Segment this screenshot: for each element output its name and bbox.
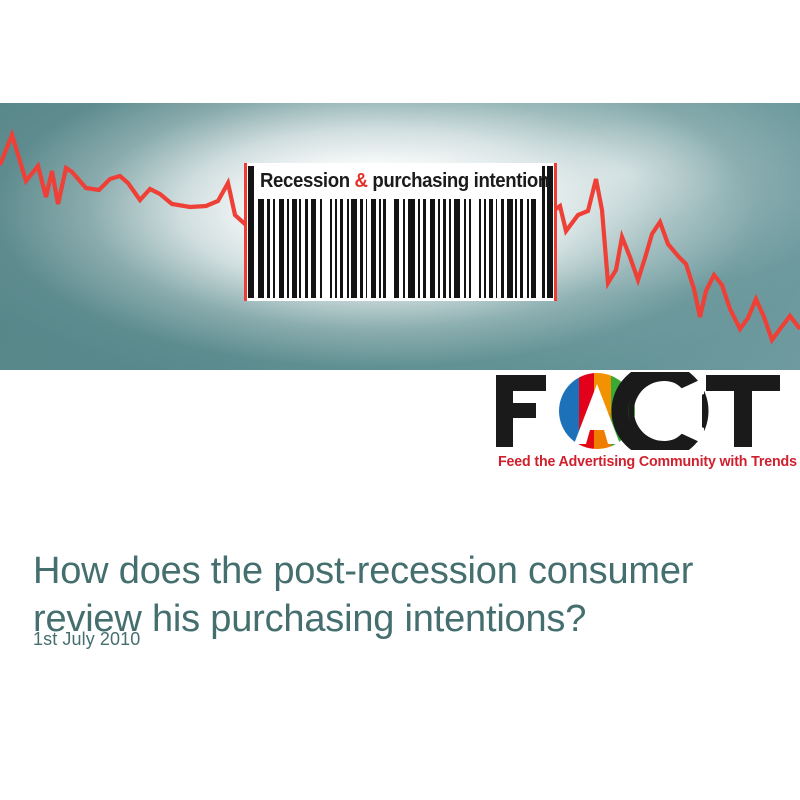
fact-logo: Feed the Advertising Community with Tren…	[492, 372, 792, 474]
barcode-bar	[371, 199, 376, 298]
barcode-bar	[287, 199, 289, 298]
barcode-title-part1: Recession	[260, 170, 354, 192]
barcode-bar	[305, 199, 308, 298]
barcode-left-red-edge	[244, 163, 247, 301]
barcode-right-red-edge	[554, 163, 557, 301]
barcode-bar	[520, 199, 523, 298]
barcode-bar	[464, 199, 467, 298]
logo-letter-c	[620, 372, 704, 450]
chart-line-left	[0, 135, 258, 225]
page-title-line-1: How does the post-recession consumer	[33, 547, 763, 595]
barcode-bar	[454, 199, 460, 298]
barcode-bar	[515, 199, 517, 298]
barcode-panel: Recession & purchasing intention	[244, 163, 557, 301]
barcode-bar	[330, 199, 333, 298]
logo-letter-f	[496, 375, 546, 447]
barcode-bar	[469, 199, 471, 298]
barcode-bar	[507, 199, 513, 298]
barcode-title: Recession & purchasing intention	[260, 165, 549, 197]
fact-logo-tagline: Feed the Advertising Community with Tren…	[498, 454, 797, 470]
barcode-bar	[394, 199, 400, 298]
barcode-bar	[531, 199, 536, 298]
barcode-bar	[408, 199, 415, 298]
barcode-bar	[340, 199, 343, 298]
barcode-title-part2: purchasing intention	[368, 170, 549, 192]
barcode-bar	[267, 199, 270, 298]
barcode-bar	[366, 199, 368, 298]
barcode-bar	[279, 199, 285, 298]
barcode-bar	[311, 199, 317, 298]
presentation-date: 1st July 2010	[33, 629, 140, 650]
barcode-bar	[501, 199, 504, 298]
barcode-bar	[403, 199, 405, 298]
barcode-bar	[347, 199, 349, 298]
barcode-bar	[449, 199, 451, 298]
barcode-bar	[479, 199, 482, 298]
barcode-bars	[258, 199, 539, 298]
barcode-bar	[443, 199, 446, 298]
barcode-title-ampersand: &	[354, 170, 367, 192]
barcode-bar	[351, 199, 357, 298]
barcode-bar	[489, 199, 493, 298]
barcode-bar	[430, 199, 436, 298]
page-title: How does the post-recession consumer rev…	[33, 547, 763, 643]
logo-letter-t	[706, 375, 780, 447]
barcode-left-guard-bar	[248, 166, 254, 298]
barcode-bar	[273, 199, 275, 298]
barcode-bar	[360, 199, 363, 298]
barcode-bar	[299, 199, 301, 298]
barcode-bar	[335, 199, 337, 298]
barcode-bar	[527, 199, 529, 298]
barcode-bar	[383, 199, 386, 298]
page-title-line-2: review his purchasing intentions?	[33, 595, 763, 643]
barcode-bar	[423, 199, 426, 298]
barcode-bar	[292, 199, 297, 298]
barcode-bar	[496, 199, 498, 298]
barcode-bar	[258, 199, 264, 298]
barcode-bar	[484, 199, 486, 298]
chart-line-right	[553, 179, 800, 340]
barcode-bar	[320, 199, 322, 298]
barcode-graphic: Recession & purchasing intention	[244, 163, 557, 301]
barcode-bar	[379, 199, 381, 298]
barcode-bar	[438, 199, 440, 298]
fact-logo-mark	[492, 372, 792, 450]
fact-wordmark-svg	[492, 372, 792, 450]
barcode-bar	[418, 199, 420, 298]
